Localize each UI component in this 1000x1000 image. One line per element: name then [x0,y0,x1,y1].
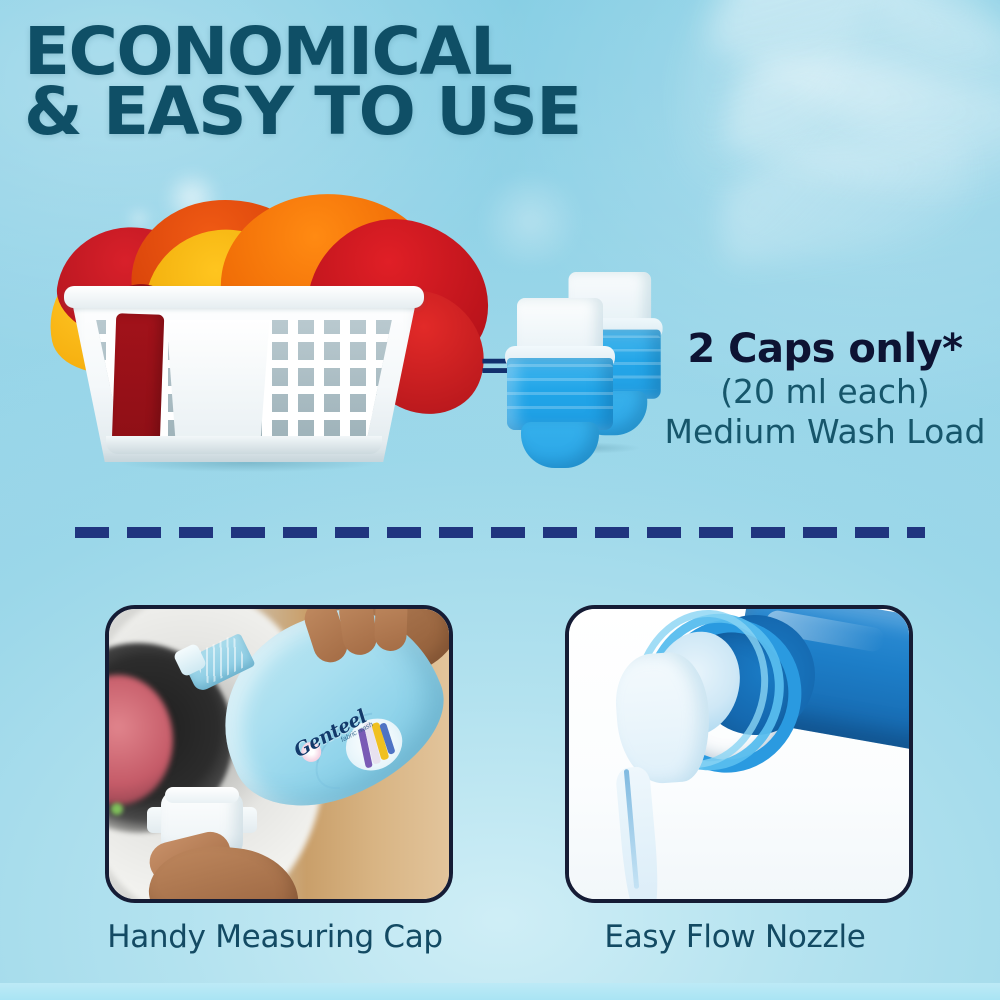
caption-handy-measuring-cap: Handy Measuring Cap [105,918,445,956]
measuring-cap-rim [165,787,239,803]
dosage-text-block: 2 Caps only* (20 ml each) Medium Wash Lo… [660,326,990,452]
draped-cloth [112,313,165,447]
dose-volume: (20 ml each) [660,372,990,412]
measuring-caps-image [505,272,675,447]
feature-panel-easy-flow-nozzle [565,605,913,903]
basket-rim [64,286,424,308]
bottom-strip [0,983,1000,1000]
finger [374,605,408,652]
light-glow [470,176,590,266]
headline: ECONOMICAL & EASY TO USE [24,22,738,142]
infographic-canvas: ECONOMICAL & EASY TO USE = [0,0,1000,1000]
laundry-basket-image [22,188,472,470]
caption-easy-flow-nozzle: Easy Flow Nozzle [565,918,905,956]
dose-load: Medium Wash Load [660,412,990,452]
basket-front-panel [162,320,274,440]
basket-base [106,436,382,454]
indicator-light [111,803,123,815]
headline-line-2: & EASY TO USE [24,82,738,142]
cap-ribs [507,364,613,420]
dashed-divider [75,527,925,538]
dose-title: 2 Caps only* [660,326,990,372]
feature-panel-handy-measuring-cap: Genteel fabric wash [105,605,453,903]
